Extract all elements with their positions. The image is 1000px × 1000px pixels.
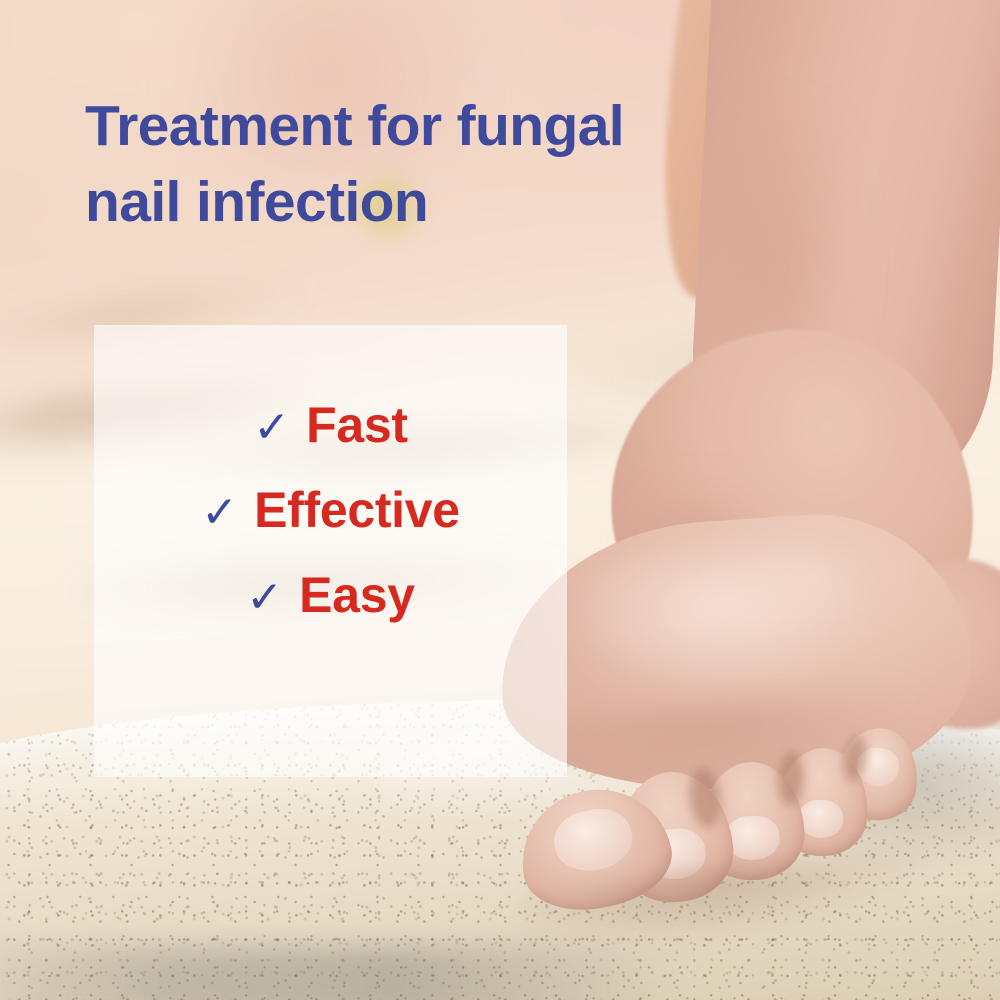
list-item: ✓ Effective — [94, 485, 567, 570]
benefit-label: Fast — [306, 400, 408, 450]
benefit-label: Effective — [254, 485, 460, 535]
benefit-label: Easy — [299, 570, 415, 620]
toenail-fourth — [798, 799, 844, 839]
check-icon: ✓ — [201, 491, 238, 535]
sand-dark-band — [0, 946, 680, 1000]
advertisement-canvas: Treatment for fungal nail infection ✓ Fa… — [0, 0, 1000, 1000]
page-title: Treatment for fungal nail infection — [85, 88, 705, 240]
list-item: ✓ Easy — [94, 570, 567, 655]
benefits-list: ✓ Fast ✓ Effective ✓ Easy — [94, 400, 567, 655]
check-icon: ✓ — [246, 576, 283, 620]
list-item: ✓ Fast — [94, 400, 567, 485]
toenail-big — [549, 803, 637, 877]
check-icon: ✓ — [253, 406, 290, 450]
